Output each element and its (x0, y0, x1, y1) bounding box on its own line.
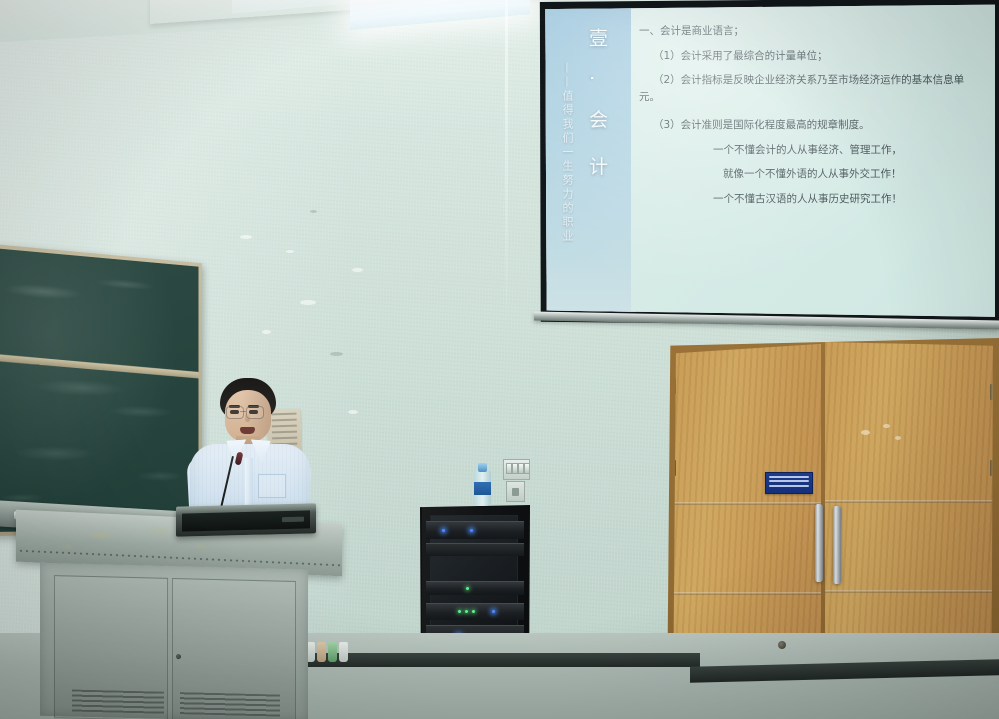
wall-corner-edge (505, 0, 508, 330)
podium-vent (180, 692, 280, 716)
rack-unit (426, 581, 524, 595)
shirt-pocket (258, 474, 286, 498)
rack-unit (426, 603, 524, 620)
floor-bottle (317, 642, 326, 662)
power-outlet[interactable] (506, 481, 525, 502)
rack-unit (426, 543, 524, 556)
door-sign-text-line (769, 485, 809, 487)
status-led (470, 529, 473, 532)
light-switch[interactable] (524, 463, 530, 474)
door-handle-left[interactable] (815, 504, 823, 582)
lecturer-nose (245, 412, 250, 422)
wall-scuff (352, 268, 363, 272)
eyeglass-lens (226, 406, 244, 419)
outlet-socket (512, 488, 519, 496)
blackboard-frame (0, 244, 202, 536)
lecture-hall-photo: 壹 . 会 计 ——值得我们一生努力的职业 一、会计是商业语言； （1）会计采用… (0, 0, 999, 719)
podium-vent (72, 690, 164, 714)
status-led (466, 587, 469, 590)
blackboard-surface (0, 248, 199, 532)
door-panel-seam (825, 590, 993, 593)
wall-scuff (300, 300, 316, 305)
wall-scuff (310, 210, 317, 213)
door-panel-seam (673, 592, 821, 595)
status-led (492, 610, 495, 613)
wall-scuff (330, 352, 343, 356)
podium-monitor-button[interactable] (282, 517, 304, 523)
floor-bottle (339, 642, 348, 662)
door-sign (765, 472, 813, 494)
door-stain (895, 436, 901, 440)
door-sign-text-line (769, 480, 809, 482)
lecturer (186, 378, 314, 523)
podium-cabinet-lock[interactable] (176, 654, 181, 659)
podium-cabinet (40, 563, 308, 719)
status-led (442, 529, 445, 532)
door-handle-right[interactable] (833, 506, 841, 584)
wall-scuff (348, 410, 358, 414)
wall-scuff (286, 250, 294, 253)
slide-projection-glare (543, 4, 995, 322)
status-led (458, 610, 461, 613)
wall-baseboard (300, 653, 700, 667)
projector-screen: 壹 . 会 计 ——值得我们一生努力的职业 一、会计是商业语言； （1）会计采用… (543, 4, 995, 322)
floor-bottle (328, 642, 337, 662)
rack-unit (426, 521, 524, 539)
wall-scuff (262, 330, 271, 334)
wall-scuff (240, 235, 252, 239)
projected-slide: 壹 . 会 计 ——值得我们一生努力的职业 一、会计是商业语言； （1）会计采用… (543, 4, 995, 322)
door-stain (883, 424, 890, 428)
door-panel-seam (825, 500, 993, 503)
status-led (465, 610, 468, 613)
door-panel-seam (673, 502, 821, 505)
bottle-label (474, 482, 491, 495)
status-led (472, 610, 475, 613)
door-stop (778, 641, 786, 649)
bottle-cap (478, 463, 487, 472)
door-sign-text-line (769, 476, 809, 478)
lecturer-mouth (240, 427, 255, 434)
light-switch-panel[interactable] (503, 459, 530, 480)
door-stain (861, 430, 870, 435)
podium-monitor[interactable] (176, 503, 316, 536)
